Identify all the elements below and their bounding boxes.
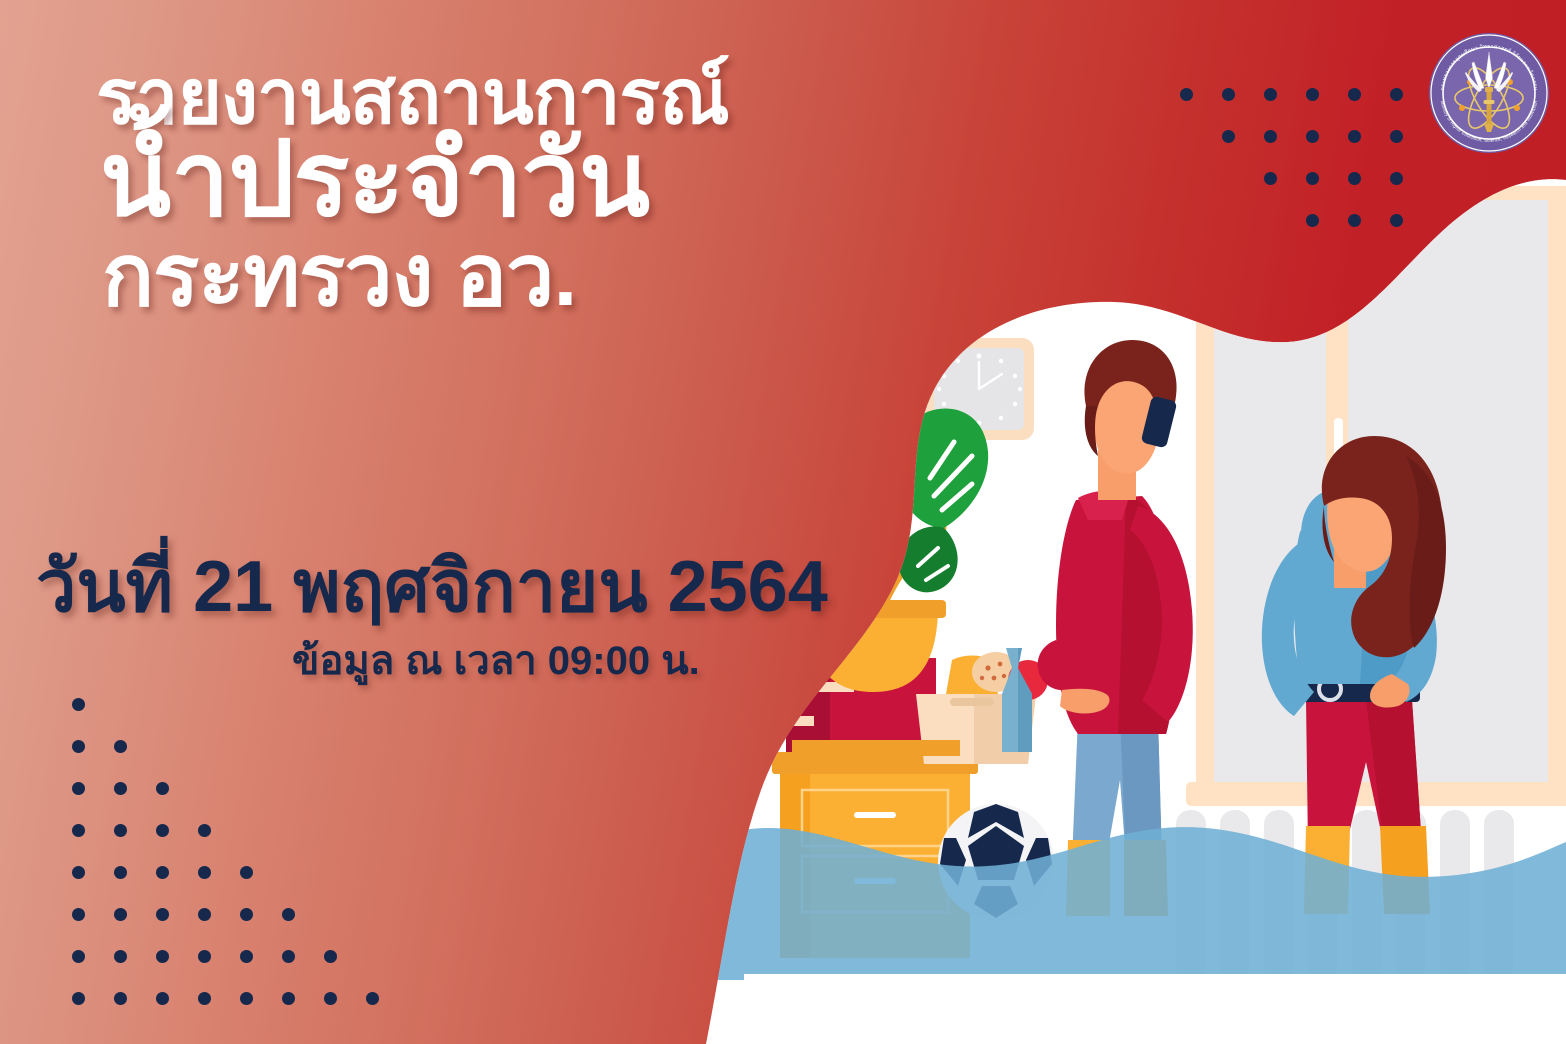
decorative-dot (240, 992, 253, 1005)
decorative-dot (282, 992, 295, 1005)
decorative-dot (72, 782, 85, 795)
decorative-dot (198, 866, 211, 879)
decorative-dot (198, 950, 211, 963)
decorative-dot (114, 782, 127, 795)
decorative-dot (240, 908, 253, 921)
decorative-dot (114, 740, 127, 753)
decorative-dot (72, 908, 85, 921)
decorative-dot (198, 824, 211, 837)
decorative-dot (114, 824, 127, 837)
decorative-dot (72, 698, 85, 711)
decorative-dot (114, 992, 127, 1005)
decorative-dot (198, 992, 211, 1005)
decorative-dot (72, 740, 85, 753)
decorative-dot (72, 992, 85, 1005)
decorative-dot (114, 950, 127, 963)
decorative-dot (282, 950, 295, 963)
decorative-dot (324, 992, 337, 1005)
decorative-dot (156, 824, 169, 837)
decorative-dot (156, 908, 169, 921)
flood-illustration (706, 0, 1566, 1044)
decorative-dot (156, 992, 169, 1005)
decorative-dot (114, 908, 127, 921)
decorative-dot (240, 866, 253, 879)
decorative-dot (240, 950, 253, 963)
decorative-dot (72, 866, 85, 879)
decorative-dot (156, 866, 169, 879)
decorative-dot (324, 950, 337, 963)
decorative-dot-grid-bottomleft (72, 698, 402, 1018)
decorative-dot (72, 950, 85, 963)
bottom-white-separator (744, 974, 1566, 982)
report-as-of-time: ข้อมูล ณ เวลา 09:00 น. (292, 628, 700, 692)
decorative-dot (114, 866, 127, 879)
poster-canvas: กระทรวงการอุดมศึกษา วิทยาศาสตร์ วิจัยและ… (0, 0, 1566, 1044)
decorative-dot (156, 950, 169, 963)
decorative-dot (156, 782, 169, 795)
decorative-dot (72, 824, 85, 837)
decorative-dot (366, 992, 379, 1005)
decorative-dot (282, 908, 295, 921)
decorative-dot (198, 908, 211, 921)
